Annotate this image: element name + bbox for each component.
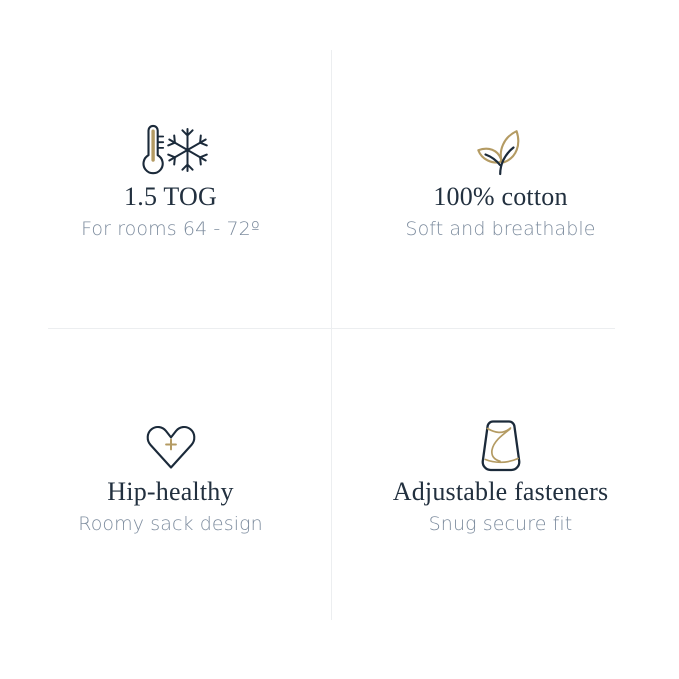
feature-card-hip-health: Hip-healthy Roomy sack design bbox=[10, 415, 331, 536]
feature-title: Hip-healthy bbox=[107, 477, 233, 507]
feature-subtitle: For rooms 64 - 72º bbox=[81, 218, 260, 241]
feature-subtitle: Snug secure fit bbox=[429, 513, 573, 536]
feature-subtitle: Roomy sack design bbox=[78, 513, 263, 536]
feature-title: 1.5 TOG bbox=[124, 182, 217, 212]
feature-grid: 1.5 TOG For rooms 64 - 72º 100% cotton S… bbox=[0, 0, 679, 679]
feature-card-fasteners: Adjustable fasteners Snug secure fit bbox=[340, 415, 661, 536]
vertical-divider bbox=[331, 50, 332, 620]
feature-title: Adjustable fasteners bbox=[393, 477, 609, 507]
leaf-icon bbox=[468, 120, 534, 182]
sleep-sack-icon bbox=[476, 415, 526, 477]
feature-title: 100% cotton bbox=[433, 182, 567, 212]
feature-subtitle: Soft and breathable bbox=[405, 218, 595, 241]
thermometer-snowflake-icon bbox=[133, 120, 209, 182]
horizontal-divider bbox=[48, 328, 615, 329]
feature-card-material: 100% cotton Soft and breathable bbox=[340, 120, 661, 241]
feature-card-tog-rating: 1.5 TOG For rooms 64 - 72º bbox=[10, 120, 331, 241]
heart-plus-icon bbox=[142, 415, 200, 477]
